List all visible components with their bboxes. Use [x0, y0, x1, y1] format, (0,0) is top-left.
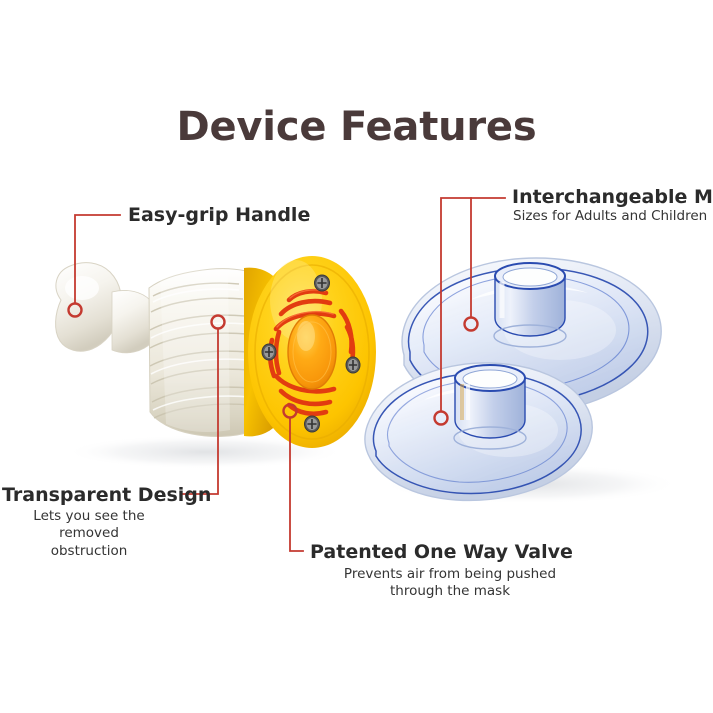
callout-subtitle-patented-one-way-valve: Prevents air from being pushed through t…	[320, 566, 580, 601]
callout-subtitle-line-1: Lets you see the removed	[33, 508, 144, 541]
callout-subtitle-interchangeable-mask: Sizes for Adults and Children	[513, 208, 707, 225]
callout-subtitle-line-2: obstruction	[51, 543, 128, 559]
page-title: Device Features	[0, 104, 713, 150]
callout-title-easy-grip-handle: Easy-grip Handle	[128, 204, 310, 226]
easy-grip-handle	[56, 263, 152, 353]
valve-housing	[244, 256, 376, 448]
callout-subtitle-line-1: Prevents air from being pushed	[344, 566, 556, 582]
callout-title-interchangeable-mask: Interchangeable Mask	[512, 186, 713, 208]
callout-title-transparent-design: Transparent Design	[2, 484, 211, 506]
infographic-canvas: Device Features Easy-grip Handle Interch…	[0, 0, 713, 713]
callout-title-patented-one-way-valve: Patented One Way Valve	[310, 541, 573, 563]
bellows-chamber	[149, 269, 250, 437]
callout-subtitle-line-2: through the mask	[390, 583, 510, 599]
callout-subtitle-transparent-design: Lets you see the removed obstruction	[3, 508, 175, 560]
